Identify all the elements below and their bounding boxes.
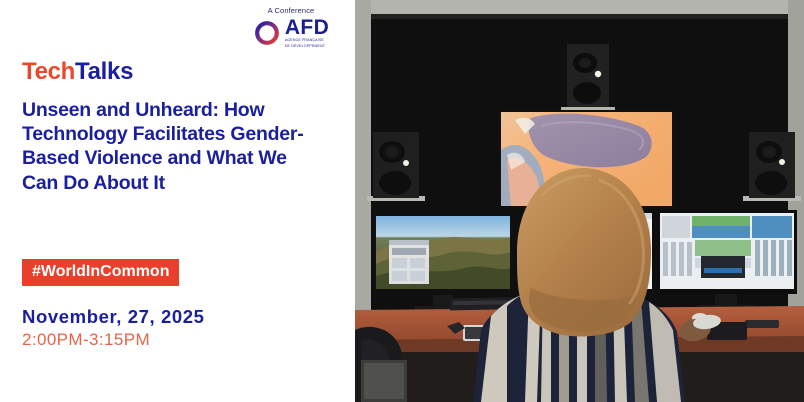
hashtag-badge: #WorldInCommon	[22, 259, 179, 286]
brand-talks-word: Talks	[75, 58, 133, 85]
event-time: 2:00PM-3:15PM	[22, 331, 150, 348]
afd-wordmark: AFD AGENCE FRANÇAISE DE DÉVELOPPEMENT	[285, 18, 329, 50]
studio-photo-illustration	[355, 0, 804, 402]
afd-letters: AFD	[285, 18, 329, 38]
afd-logo: AFD AGENCE FRANÇAISE DE DÉVELOPPEMENT	[241, 18, 341, 50]
afd-logo-block: A Conference AFD AGENCE FRANÇAISE	[241, 7, 341, 49]
studio-speaker-center	[561, 44, 615, 121]
text-panel: A Conference AFD AGENCE FRANÇAISE	[0, 0, 355, 402]
desk-device	[745, 320, 779, 328]
afd-ring-icon	[253, 19, 281, 47]
studio-speaker-right	[749, 132, 795, 198]
talk-title: Unseen and Unheard: How Technology Facil…	[22, 98, 322, 195]
conference-banner: A Conference AFD AGENCE FRANÇAISE	[0, 0, 804, 402]
brand-lockup: TechTalks	[22, 60, 133, 84]
studio-photograph	[355, 0, 804, 402]
event-date: November, 27, 2025	[22, 308, 205, 327]
ceiling-strip	[355, 0, 804, 14]
afd-subtitle-line2: DE DÉVELOPPEMENT	[285, 44, 329, 49]
studio-speaker-left	[373, 132, 419, 198]
brand-tech-word: Tech	[22, 58, 75, 85]
conference-kicker: A Conference	[241, 7, 341, 15]
afd-subtitle-line1: AGENCE FRANÇAISE	[285, 38, 329, 43]
